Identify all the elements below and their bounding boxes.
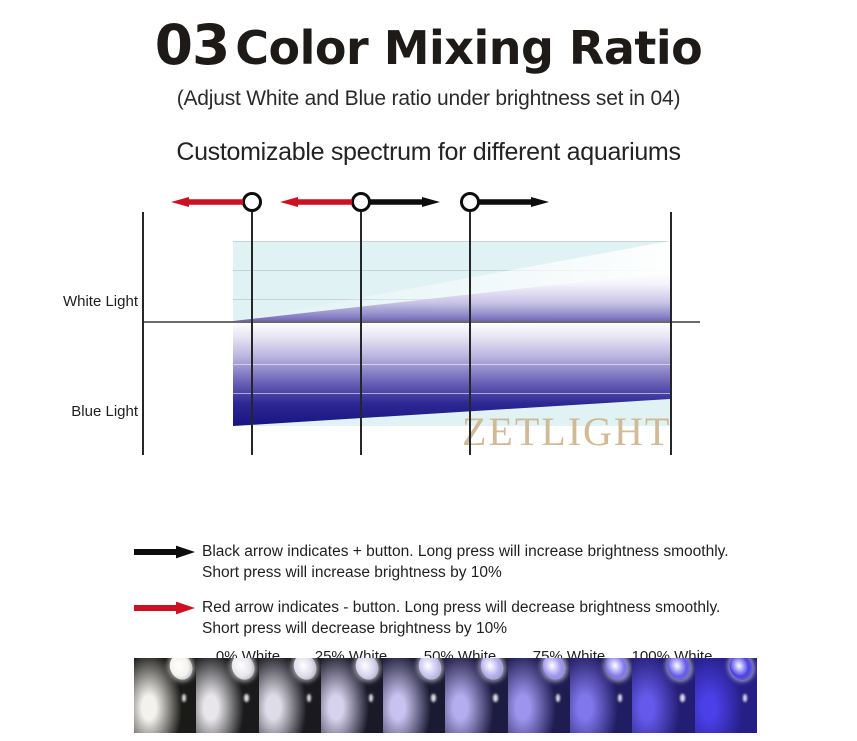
led-highlight-dot-icon bbox=[307, 694, 311, 702]
led-cell-4 bbox=[321, 658, 383, 733]
page-subtitle: (Adjust White and Blue ratio under brigh… bbox=[0, 87, 857, 111]
led-cell-6 bbox=[445, 658, 507, 733]
legend-black-line1: Black arrow indicates + button. Long pre… bbox=[202, 541, 834, 562]
legend-row-black: Black arrow indicates + button. Long pre… bbox=[134, 541, 834, 583]
led-cell-7 bbox=[508, 658, 570, 733]
led-cell-2 bbox=[196, 658, 258, 733]
led-highlight-dot-icon bbox=[182, 694, 186, 702]
vline-0 bbox=[142, 212, 144, 455]
separator-line bbox=[233, 364, 670, 365]
black-arrow-right-icon bbox=[134, 544, 196, 560]
black-arrow-right-icon-75[interactable] bbox=[477, 195, 551, 209]
led-cell-10 bbox=[695, 658, 757, 733]
legend-text-black: Black arrow indicates + button. Long pre… bbox=[202, 541, 834, 583]
legend-text-red: Red arrow indicates - button. Long press… bbox=[202, 597, 834, 639]
led-highlight-dot-icon bbox=[493, 694, 497, 702]
separator-line bbox=[233, 393, 670, 394]
led-spectrum-strip bbox=[134, 658, 757, 733]
black-arrow-right-icon-50[interactable] bbox=[368, 195, 442, 209]
led-highlight-dot-icon bbox=[369, 694, 373, 702]
led-highlight-dot-icon bbox=[743, 694, 747, 702]
led-highlight-dot-icon bbox=[431, 694, 435, 702]
red-arrow-right-icon bbox=[134, 600, 196, 616]
chart-plot: ZETLIGHT bbox=[142, 212, 700, 455]
legend-red-line2: Short press will decrease brightness by … bbox=[202, 618, 834, 639]
led-cell-8 bbox=[570, 658, 632, 733]
led-highlight-dot-icon bbox=[680, 694, 684, 702]
led-highlight-dot-icon bbox=[556, 694, 560, 702]
color-mixing-chart: White Light Blue Light ZETLIGHT bbox=[0, 190, 857, 520]
led-cell-5 bbox=[383, 658, 445, 733]
knob-handle-25[interactable] bbox=[242, 192, 262, 212]
chart-side-labels: White Light Blue Light bbox=[0, 212, 138, 455]
led-cell-1 bbox=[134, 658, 196, 733]
vline-100 bbox=[670, 212, 672, 455]
led-highlight-dot-icon bbox=[244, 694, 248, 702]
section-heading: Customizable spectrum for different aqua… bbox=[0, 138, 857, 167]
red-arrow-left-icon-25[interactable] bbox=[169, 195, 243, 209]
led-cell-9 bbox=[632, 658, 694, 733]
legend-red-line1: Red arrow indicates - button. Long press… bbox=[202, 597, 834, 618]
white-light-label: White Light bbox=[63, 293, 138, 310]
vline-75 bbox=[469, 212, 471, 455]
red-arrow-left-icon-50[interactable] bbox=[278, 195, 352, 209]
header-block: 03Color Mixing Ratio (Adjust White and B… bbox=[0, 18, 857, 111]
title-text: Color Mixing Ratio bbox=[229, 21, 702, 75]
vline-50 bbox=[360, 212, 362, 455]
legend-black-line2: Short press will increase brightness by … bbox=[202, 562, 834, 583]
title-number: 03 bbox=[155, 13, 230, 77]
page-title: 03Color Mixing Ratio bbox=[0, 18, 857, 73]
legend: Black arrow indicates + button. Long pre… bbox=[134, 541, 834, 653]
blue-light-label: Blue Light bbox=[71, 403, 138, 420]
center-axis bbox=[142, 321, 700, 323]
vline-25 bbox=[251, 212, 253, 455]
legend-row-red: Red arrow indicates - button. Long press… bbox=[134, 597, 834, 639]
led-cell-3 bbox=[259, 658, 321, 733]
gridline bbox=[233, 241, 670, 242]
